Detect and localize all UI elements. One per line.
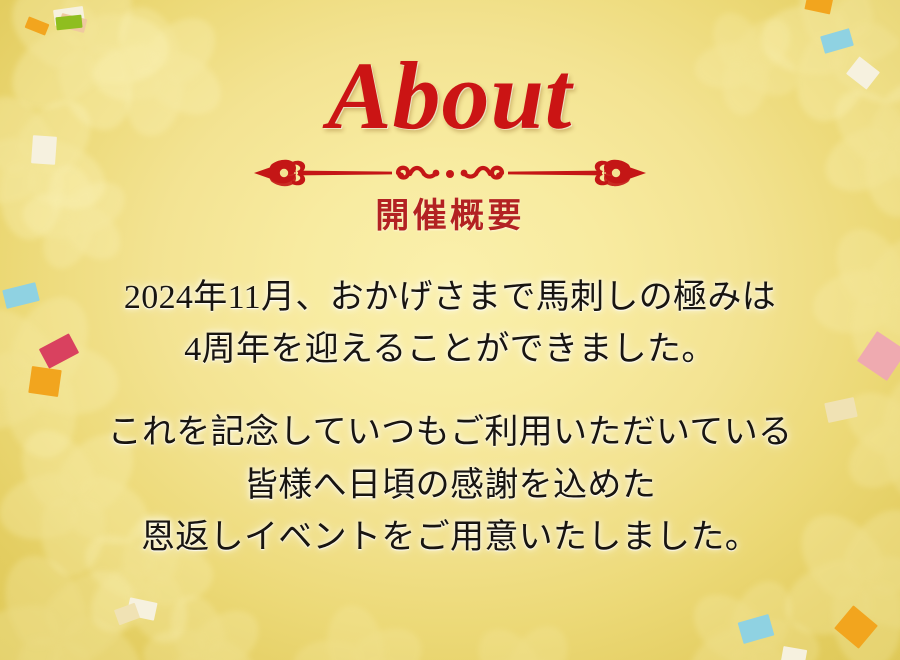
body-text-container: 2024年11月、おかげさまで馬刺しの極みは4周年を迎えることができました。これ… [0,272,900,565]
page-title: About [0,46,900,147]
ornamental-divider-icon [240,153,660,193]
body-line: 4周年を迎えることができました。 [0,324,900,377]
body-paragraph: 2024年11月、おかげさまで馬刺しの極みは4周年を迎えることができました。 [0,272,900,377]
body-line: 恩返しイベントをご用意いたしました。 [0,512,900,565]
poster-content: About [0,0,900,660]
body-line: 2024年11月、おかげさまで馬刺しの極みは [0,272,900,325]
body-line: これを記念していつもご利用いただいている [0,407,900,460]
page-subtitle: 開催概要 [0,197,900,238]
about-poster: About [0,0,900,660]
body-paragraph: これを記念していつもご利用いただいている皆様へ日頃の感謝を込めた恩返しイベントを… [0,407,900,565]
body-line: 皆様へ日頃の感謝を込めた [0,460,900,513]
